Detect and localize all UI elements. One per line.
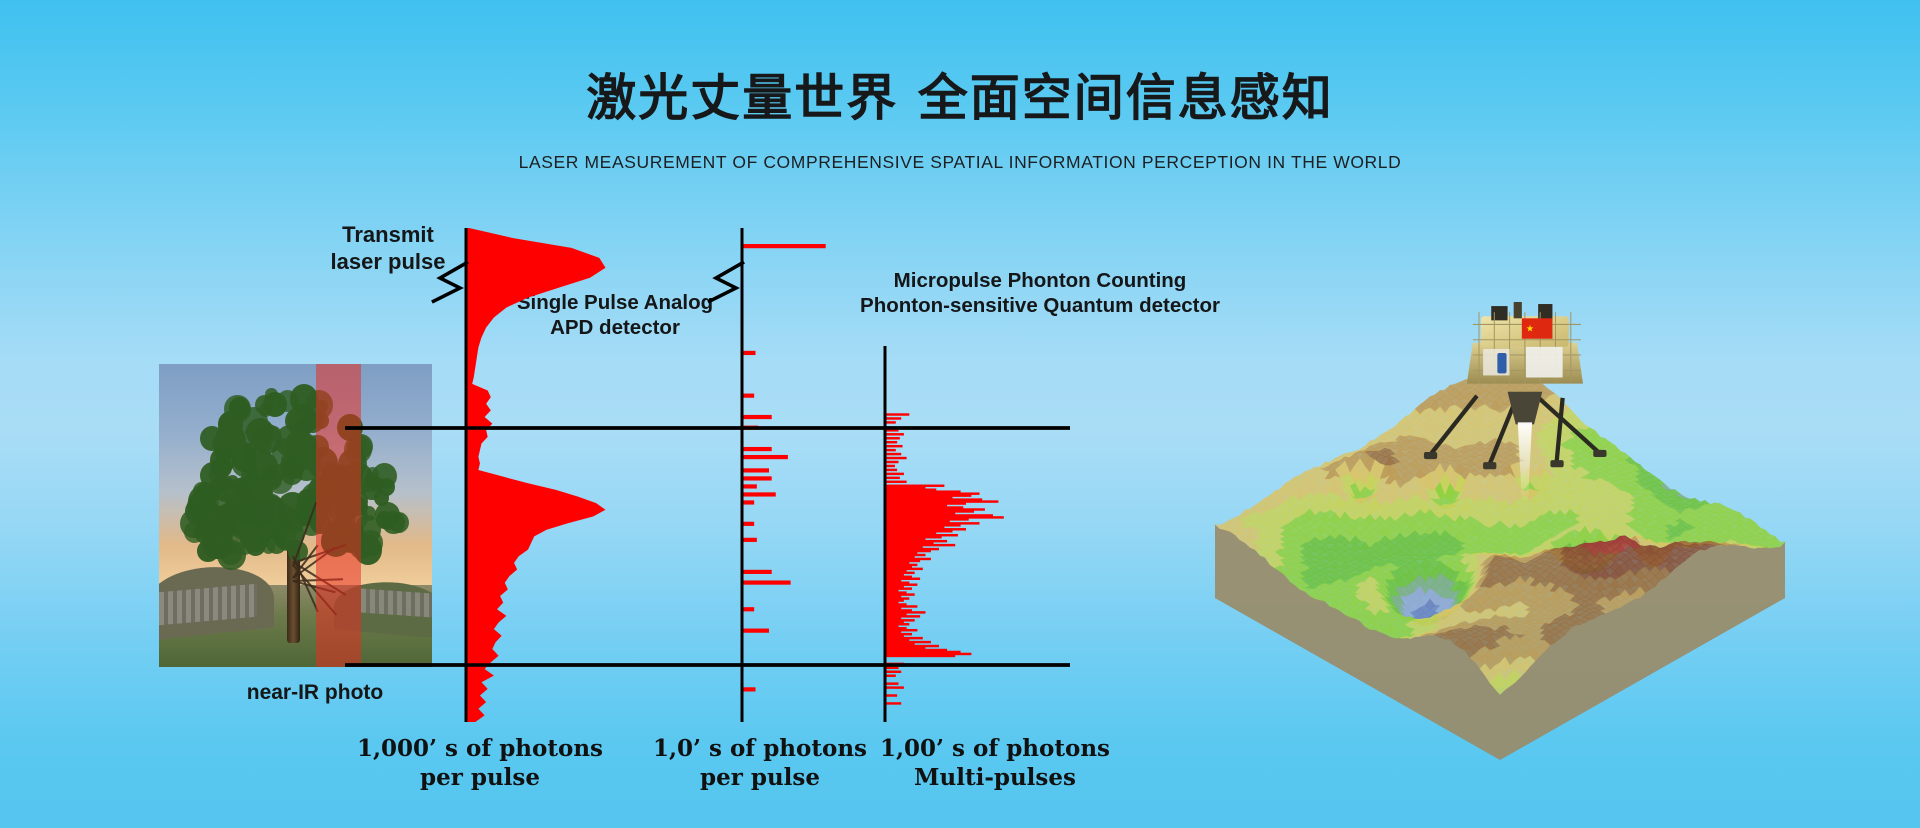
photon-bar (742, 629, 769, 633)
analog-waveform-fill (466, 228, 606, 722)
photon-bar (742, 492, 776, 496)
lander-footpad (1424, 452, 1437, 459)
photon-bar (742, 580, 791, 584)
photon-bar (742, 455, 788, 459)
china-flag-stars: ★ (1526, 324, 1534, 335)
photon-bar (742, 522, 754, 526)
photon-bar (885, 675, 896, 677)
axis-break-symbol-0-top (432, 262, 468, 302)
photon-bar (885, 433, 904, 435)
photon-bar (885, 441, 897, 443)
photon-bar (885, 469, 897, 471)
photon-bar (885, 457, 907, 459)
photon-bar (885, 437, 900, 439)
lander-footpad (1483, 462, 1496, 469)
photon-bar (742, 244, 826, 248)
infographic-stage: 激光丈量世界 全面空间信息感知 LASER MEASUREMENT OF COM… (0, 0, 1920, 828)
photon-bar (885, 445, 903, 447)
photon-bar (885, 449, 896, 451)
lander-antenna-box-left (1491, 306, 1507, 320)
photon-bar (885, 417, 901, 419)
photon-bar (742, 484, 757, 488)
photon-bar (885, 473, 904, 475)
photon-bar (742, 351, 756, 355)
photon-bar (742, 500, 754, 504)
photon-bar (742, 394, 754, 398)
lunar-lander-terrain-render: ★ (1190, 280, 1830, 760)
caption-middle-panel: 1,0’ s of photons per pulse (640, 735, 880, 793)
photon-bar (885, 686, 904, 688)
photon-bar (742, 538, 757, 542)
photon-bar (885, 453, 901, 455)
photon-bar (885, 477, 900, 479)
photon-bar (742, 468, 769, 472)
photon-bar (885, 694, 897, 696)
photon-bar (885, 667, 899, 669)
photon-bar (742, 447, 772, 451)
photon-bar (885, 413, 909, 415)
lander-radiator-panel (1526, 347, 1563, 378)
lander-instrument (1497, 353, 1506, 373)
photon-bar (742, 415, 772, 419)
lander-footpad (1550, 460, 1563, 467)
caption-left-panel: 1,000’ s of photons per pulse (340, 735, 620, 793)
photon-bar (742, 687, 756, 691)
photon-bar (885, 702, 901, 704)
photon-bar (885, 682, 899, 684)
photon-bar (885, 671, 901, 673)
caption-right-panel: 1,00’ s of photons Multi-pulses (865, 735, 1125, 793)
photon-bar (885, 461, 899, 463)
photon-bar (742, 607, 754, 611)
photon-bar (742, 570, 772, 574)
axis-break-symbol-1-top (708, 262, 744, 302)
photon-bar (885, 421, 896, 423)
photon-bar (885, 481, 907, 483)
lander-mast (1514, 302, 1522, 318)
lander-footpad (1593, 450, 1606, 457)
photon-bar (742, 476, 772, 480)
photon-bar (885, 655, 955, 657)
terrain-mesh: ★ (1215, 302, 1785, 760)
